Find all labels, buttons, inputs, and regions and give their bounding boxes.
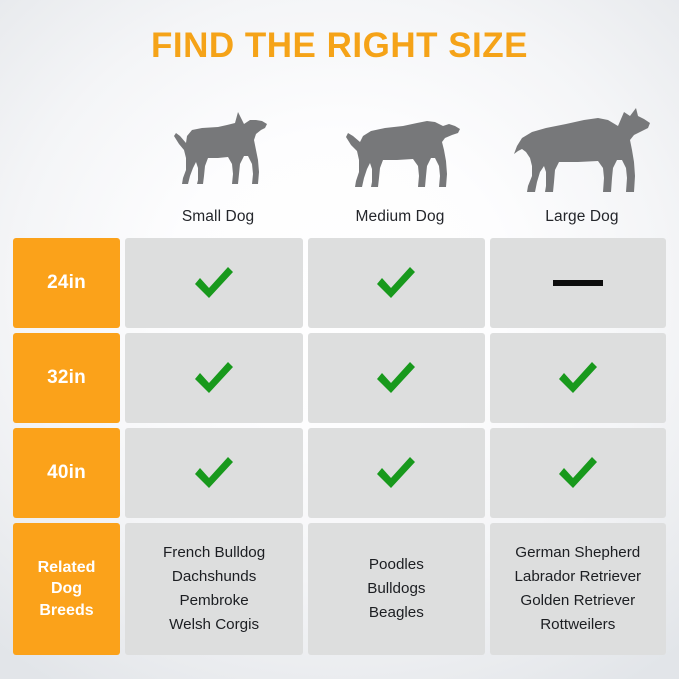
check-icon bbox=[192, 264, 236, 302]
cell-breeds-large: German Shepherd Labrador Retriever Golde… bbox=[490, 523, 666, 655]
list-item: Bulldogs bbox=[367, 577, 425, 601]
cell-breeds-small: French Bulldog Dachshunds Pembroke Welsh… bbox=[125, 523, 303, 655]
large-dog-silhouette bbox=[512, 106, 652, 198]
cell-breeds-medium: Poodles Bulldogs Beagles bbox=[308, 523, 484, 655]
size-label-text: 40in bbox=[47, 462, 86, 484]
breeds-label-line-2: Dog bbox=[51, 580, 82, 597]
check-icon bbox=[374, 359, 418, 397]
breeds-label-line-3: Breeds bbox=[39, 602, 93, 619]
cell-24in-small bbox=[125, 238, 303, 328]
dog-label-small: Small Dog bbox=[182, 208, 254, 226]
size-guide-infographic: FIND THE RIGHT SIZE Small Dog bbox=[0, 0, 679, 679]
dog-label-medium: Medium Dog bbox=[356, 208, 445, 226]
size-label-text: 24in bbox=[47, 272, 86, 294]
list-item: Poodles bbox=[367, 553, 425, 577]
cell-40in-medium bbox=[308, 428, 484, 518]
row-label-32in: 32in bbox=[13, 333, 120, 423]
list-item: French Bulldog bbox=[163, 541, 265, 565]
cell-24in-medium bbox=[308, 238, 484, 328]
check-icon bbox=[192, 359, 236, 397]
row-label-24in: 24in bbox=[13, 238, 120, 328]
list-item: Rottweilers bbox=[514, 613, 641, 637]
cell-32in-large bbox=[490, 333, 666, 423]
table-row-breeds: Related Dog Breeds French Bulldog Dachsh… bbox=[13, 523, 666, 655]
check-icon bbox=[556, 359, 600, 397]
list-item: Welsh Corgis bbox=[163, 613, 265, 637]
size-chart-table: 24in 32in bbox=[13, 238, 666, 655]
breed-list-small: French Bulldog Dachshunds Pembroke Welsh… bbox=[163, 541, 265, 637]
row-label-related-breeds: Related Dog Breeds bbox=[13, 523, 120, 655]
table-row: 32in bbox=[13, 333, 666, 423]
check-icon bbox=[556, 454, 600, 492]
page-title: FIND THE RIGHT SIZE bbox=[0, 26, 679, 66]
check-icon bbox=[374, 454, 418, 492]
dash-icon bbox=[553, 280, 603, 286]
check-icon bbox=[192, 454, 236, 492]
breed-list-medium: Poodles Bulldogs Beagles bbox=[367, 553, 425, 625]
cell-40in-large bbox=[490, 428, 666, 518]
list-item: Labrador Retriever bbox=[514, 565, 641, 589]
cell-32in-small bbox=[125, 333, 303, 423]
list-item: German Shepherd bbox=[514, 541, 641, 565]
table-row: 24in bbox=[13, 238, 666, 328]
dog-size-header: Small Dog Medium Dog Large Dog bbox=[128, 96, 672, 226]
list-item: Pembroke bbox=[163, 589, 265, 613]
list-item: Golden Retriever bbox=[514, 589, 641, 613]
check-icon bbox=[374, 264, 418, 302]
small-dog-silhouette bbox=[166, 106, 270, 198]
dog-label-large: Large Dog bbox=[545, 208, 618, 226]
breed-list-large: German Shepherd Labrador Retriever Golde… bbox=[514, 541, 641, 637]
dog-column-small: Small Dog bbox=[128, 96, 308, 226]
cell-24in-large bbox=[490, 238, 666, 328]
table-row: 40in bbox=[13, 428, 666, 518]
list-item: Beagles bbox=[367, 601, 425, 625]
cell-32in-medium bbox=[308, 333, 484, 423]
breeds-label-line-1: Related bbox=[38, 559, 96, 576]
breeds-label-text: Related Dog Breeds bbox=[38, 557, 96, 621]
list-item: Dachshunds bbox=[163, 565, 265, 589]
size-label-text: 32in bbox=[47, 367, 86, 389]
cell-40in-small bbox=[125, 428, 303, 518]
medium-dog-silhouette bbox=[339, 106, 461, 198]
dog-column-medium: Medium Dog bbox=[308, 96, 492, 226]
dog-column-large: Large Dog bbox=[492, 96, 672, 226]
row-label-40in: 40in bbox=[13, 428, 120, 518]
